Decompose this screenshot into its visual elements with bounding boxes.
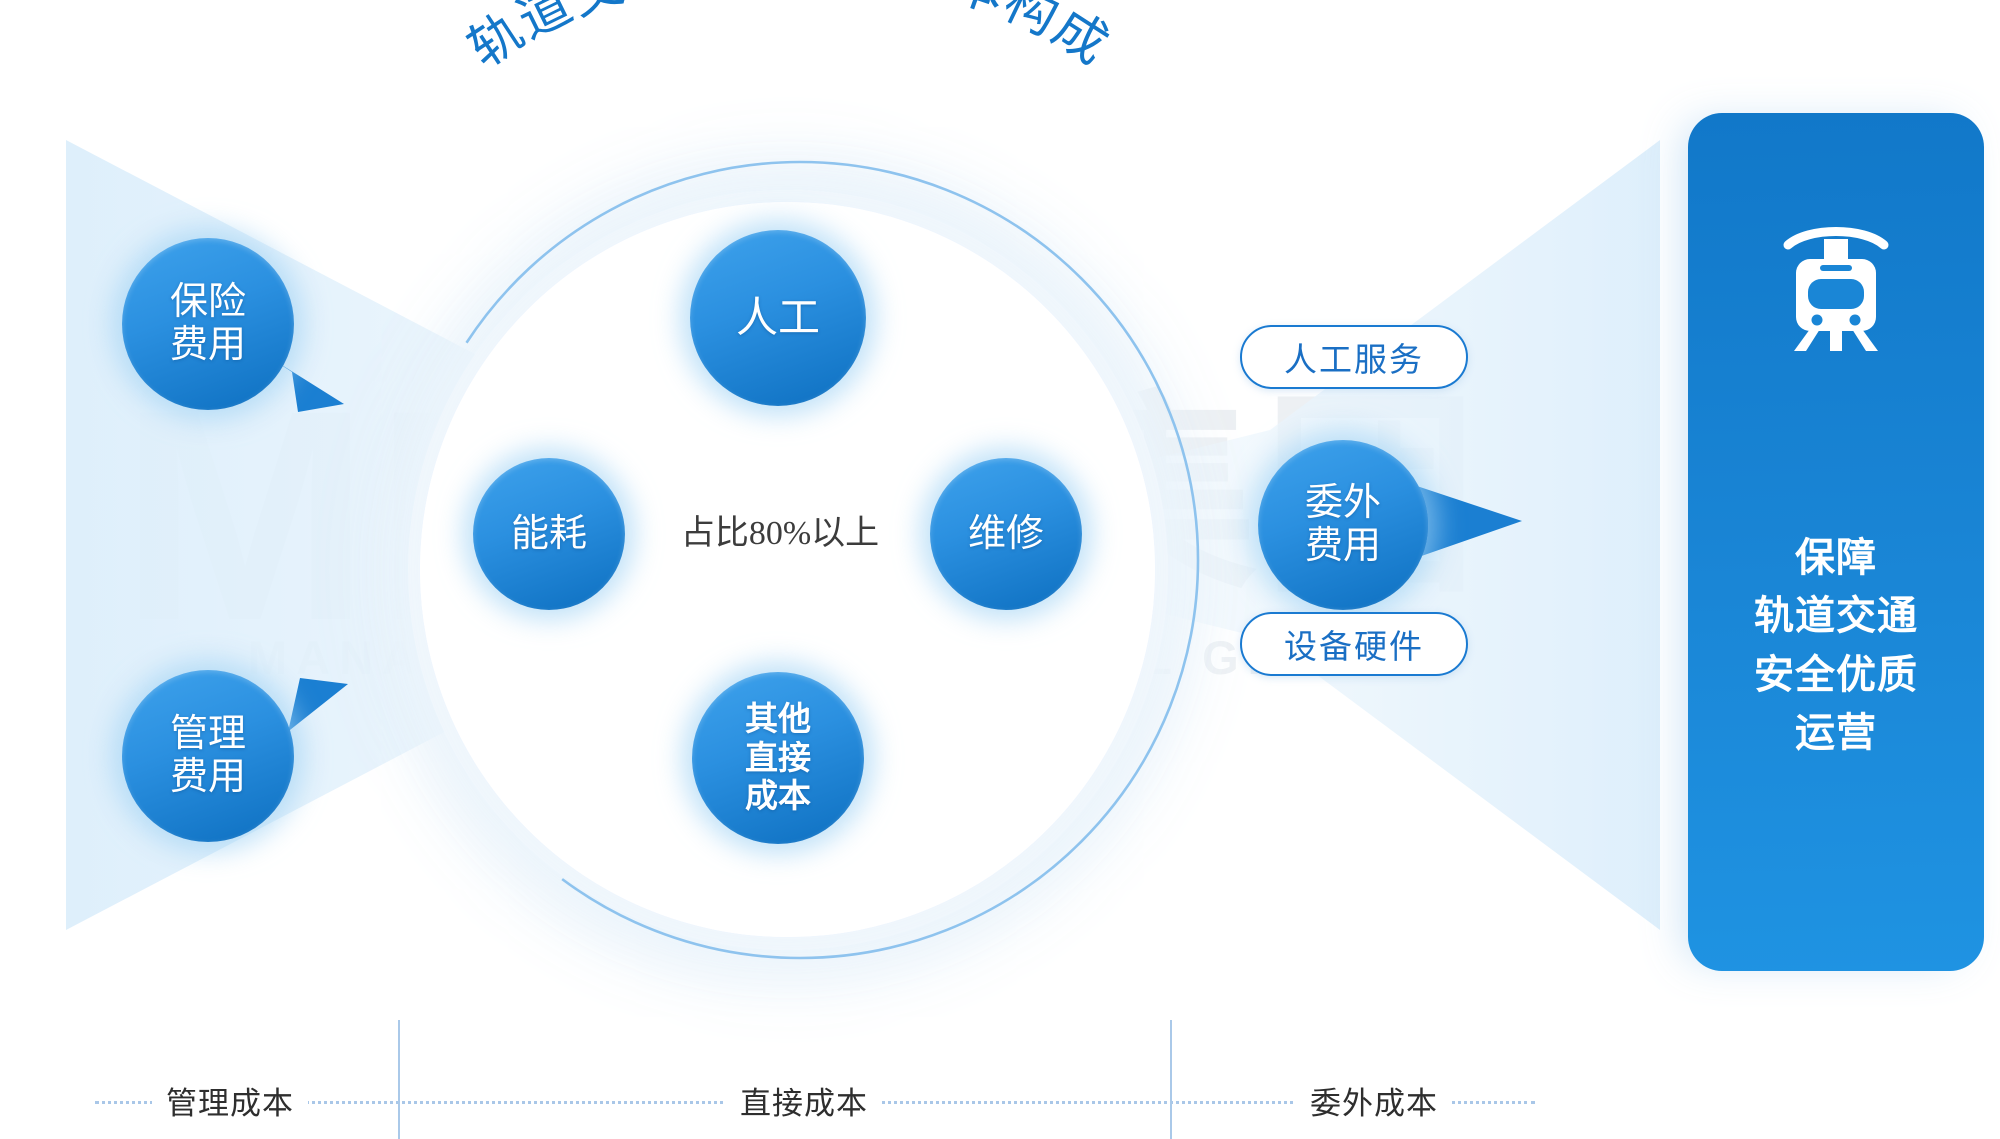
bubble-maintenance-label: 维修 [968, 513, 1044, 556]
outcome-line-3: 安全优质 [1754, 646, 1918, 704]
bubble-maintenance[interactable]: 维修 [930, 458, 1082, 610]
bubble-insurance-line-2: 费用 [170, 324, 246, 367]
train-icon [1776, 221, 1896, 351]
pill-labor-service[interactable]: 人工服务 [1240, 325, 1468, 389]
svg-text:轨道交通运营业务成本构成: 轨道交通运营业务成本构成 [459, 0, 1120, 79]
bubble-energy[interactable]: 能耗 [473, 458, 625, 610]
bubble-insurance-line-1: 保险 [170, 281, 246, 324]
bubble-management-line-2: 费用 [170, 756, 246, 799]
legend-label-direct-cost: 直接成本 [726, 1078, 882, 1123]
diagram-canvas: MP 中咨集团 MANAGEMENT PROFESSIONAL GROUP [0, 0, 2000, 1139]
bubble-other-line-1: 其他 [745, 700, 811, 739]
legend-label-management-cost: 管理成本 [152, 1078, 308, 1123]
outcome-line-2: 轨道交通 [1754, 587, 1918, 645]
bubble-labor-label: 人工 [736, 294, 820, 341]
bubble-management-line-1: 管理 [170, 713, 246, 756]
bubble-insurance-cost[interactable]: 保险 费用 [122, 238, 294, 410]
bubble-energy-label: 能耗 [511, 513, 587, 556]
outcome-line-1: 保障 [1754, 529, 1918, 587]
pill-equipment-hardware[interactable]: 设备硬件 [1240, 612, 1468, 676]
outcome-panel[interactable]: 保障 轨道交通 安全优质 运营 [1688, 113, 1984, 971]
bubble-outsource-line-2: 费用 [1305, 525, 1381, 568]
bubble-outsource-cost[interactable]: 委外 费用 [1258, 440, 1428, 610]
pill-equipment-hardware-label: 设备硬件 [1284, 620, 1424, 668]
bubble-other-line-3: 成本 [745, 777, 811, 816]
bubble-management-cost[interactable]: 管理 费用 [122, 670, 294, 842]
page-title: 轨道交通运营业务成本构成 [370, 0, 1210, 210]
outcome-panel-text: 保障 轨道交通 安全优质 运营 [1754, 529, 1918, 763]
legend-divider-1 [398, 1020, 400, 1139]
bubble-other-direct-cost[interactable]: 其他 直接 成本 [692, 672, 864, 844]
legend-divider-2 [1170, 1020, 1172, 1139]
bubble-other-line-2: 直接 [745, 739, 811, 778]
bubble-outsource-line-1: 委外 [1305, 482, 1381, 525]
center-share-note: 占比80%以上 [660, 505, 900, 554]
outcome-line-4: 运营 [1754, 704, 1918, 762]
legend-label-outsource-cost: 委外成本 [1296, 1078, 1452, 1123]
cost-category-legend: 管理成本 直接成本 委外成本 [0, 1020, 2000, 1139]
bubble-labor[interactable]: 人工 [690, 230, 866, 406]
page-title-text: 轨道交通运营业务成本构成 [459, 0, 1120, 79]
pill-labor-service-label: 人工服务 [1284, 333, 1424, 381]
